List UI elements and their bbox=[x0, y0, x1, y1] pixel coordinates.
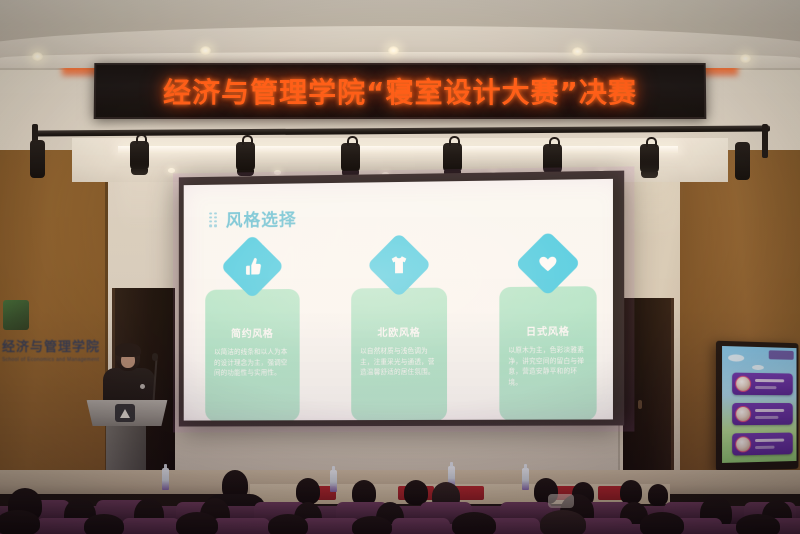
cloud-decoration bbox=[728, 354, 744, 361]
pelmet-light-strip bbox=[118, 146, 678, 153]
audience-head bbox=[452, 512, 496, 534]
style-card-title: 北欧风格 bbox=[360, 324, 438, 340]
auditorium-photo: 经济与管理学院 School of Economics and Manageme… bbox=[0, 0, 800, 534]
presenter-badge bbox=[140, 384, 145, 389]
list-item-label bbox=[755, 439, 784, 442]
stage-spotlight bbox=[443, 143, 462, 173]
list-item-label bbox=[755, 379, 784, 382]
audience-head bbox=[176, 512, 218, 534]
dot-grid-icon bbox=[209, 212, 220, 226]
list-item bbox=[732, 403, 793, 425]
ceiling-downlight bbox=[740, 54, 751, 63]
monitor-header-bar bbox=[769, 350, 794, 360]
stage-spotlight bbox=[543, 144, 562, 174]
audience-head bbox=[736, 514, 780, 534]
slide-header: 风格选择 bbox=[209, 205, 297, 231]
list-item bbox=[732, 433, 793, 456]
audience-head bbox=[84, 514, 124, 534]
wall-signage: 经济与管理学院 School of Economics and Manageme… bbox=[2, 336, 74, 363]
door-handle-icon bbox=[638, 400, 642, 409]
avatar bbox=[735, 376, 751, 392]
style-card-body: 简约风格 以简洁的线条和以人为本的设计理念为主，强调空间的功能性与实用性。 bbox=[205, 289, 299, 421]
led-banner-text: 经济与管理学院“寝室设计大赛”决赛 bbox=[163, 71, 637, 111]
led-banner: 经济与管理学院“寝室设计大赛”决赛 bbox=[94, 63, 707, 119]
style-card-list: 简约风格 以简洁的线条和以人为本的设计理念为主，强调空间的功能性与实用性。 北欧… bbox=[205, 240, 596, 421]
wall-sign-english: School of Economics and Management bbox=[2, 357, 74, 363]
projection-screen: 风格选择 简约风格 以简洁的线条和以人为本的设计理念为主，强调空间的功能性与实用… bbox=[179, 171, 624, 427]
style-card-text: 以原木为主，色彩淡雅素净，讲究空间的留白与禅意，营造安静平和的环境。 bbox=[508, 345, 587, 388]
stage-spotlight bbox=[30, 140, 45, 178]
audience-head bbox=[268, 514, 308, 534]
style-card-title: 简约风格 bbox=[214, 325, 291, 340]
stage-spotlight bbox=[341, 143, 360, 173]
avatar bbox=[735, 406, 751, 422]
audience bbox=[0, 458, 800, 534]
seat bbox=[212, 518, 270, 534]
list-item-label bbox=[755, 409, 784, 412]
audience-head bbox=[296, 478, 320, 504]
audience-head bbox=[640, 512, 684, 534]
style-card: 日式风格 以原木为主，色彩淡雅素净，讲究空间的留白与禅意，营造安静平和的环境。 bbox=[499, 240, 596, 421]
style-card-title: 日式风格 bbox=[508, 323, 587, 339]
style-card-text: 以简洁的线条和以人为本的设计理念为主，强调空间的功能性与实用性。 bbox=[214, 347, 291, 379]
avatar bbox=[735, 436, 751, 452]
stage-spotlight bbox=[236, 142, 255, 172]
audience-head bbox=[352, 516, 392, 534]
list-item-sublabel bbox=[755, 446, 775, 449]
cloud-decoration bbox=[752, 365, 764, 370]
slide-surface: 风格选择 简约风格 以简洁的线条和以人为本的设计理念为主，强调空间的功能性与实用… bbox=[184, 179, 613, 421]
audience-face-highlight bbox=[548, 494, 574, 508]
style-card-text: 以自然材质与浅色调为主，注重采光与通透，营造温馨舒适的居住氛围。 bbox=[360, 346, 438, 378]
stage-spotlight bbox=[640, 144, 659, 174]
seat bbox=[122, 518, 180, 534]
stage-spotlight bbox=[735, 142, 750, 180]
recessed-light bbox=[274, 170, 281, 175]
slide-title: 风格选择 bbox=[226, 205, 297, 231]
style-card-body: 日式风格 以原木为主，色彩淡雅素净，讲究空间的留白与禅意，营造安静平和的环境。 bbox=[499, 286, 596, 420]
list-item bbox=[732, 373, 793, 396]
ceiling-downlight bbox=[200, 46, 211, 55]
microphone-icon bbox=[152, 353, 158, 361]
list-item-sublabel bbox=[755, 386, 776, 389]
seat bbox=[392, 518, 450, 534]
wall-sign-chinese: 经济与管理学院 bbox=[2, 336, 74, 355]
school-emblem bbox=[3, 300, 29, 330]
style-card: 北欧风格 以自然材质与浅色调为主，注重采光与通透，营造温馨舒适的居住氛围。 bbox=[351, 241, 447, 420]
audience-head bbox=[0, 510, 40, 534]
truss-end-cap bbox=[762, 124, 768, 158]
style-card: 简约风格 以简洁的线条和以人为本的设计理念为主，强调空间的功能性与实用性。 bbox=[205, 243, 299, 420]
ceiling-downlight bbox=[572, 47, 583, 56]
side-monitor-screen bbox=[722, 346, 796, 463]
recessed-light bbox=[168, 168, 175, 173]
ceiling-downlight bbox=[388, 46, 399, 55]
list-item-sublabel bbox=[755, 416, 778, 419]
presenter-hair bbox=[115, 343, 141, 357]
audience-head bbox=[540, 510, 586, 534]
audience-head bbox=[648, 484, 668, 506]
side-monitor bbox=[716, 341, 798, 472]
audience-head bbox=[620, 480, 642, 504]
lectern-emblem-icon bbox=[115, 404, 135, 422]
ceiling-downlight bbox=[32, 52, 43, 61]
stage-spotlight bbox=[130, 141, 149, 171]
style-card-body: 北欧风格 以自然材质与浅色调为主，注重采光与通透，营造温馨舒适的居住氛围。 bbox=[351, 288, 447, 421]
